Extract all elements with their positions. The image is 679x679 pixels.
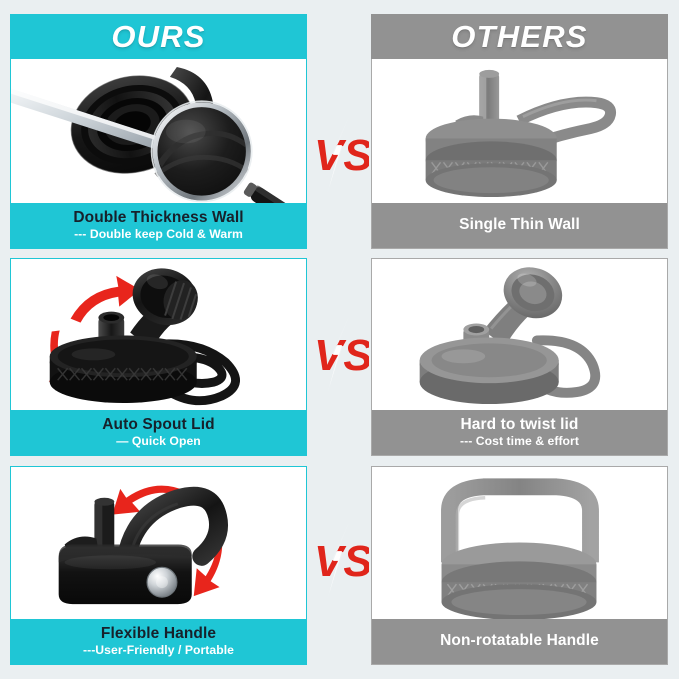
panel-others-row-1: Single Thin Wall [371,59,668,249]
caption-title: Auto Spout Lid [102,417,214,433]
header-title-ours: OURS [111,19,205,55]
vs-badge-graphic: VS [313,112,369,194]
non-rotatable-handle-illustration [372,467,667,619]
auto-spout-lid-illustration [11,259,306,410]
comparison-infographic: OURS [0,0,679,679]
caption-subtitle: — Quick Open [116,435,201,448]
single-thin-wall-illustration [372,59,667,203]
column-ours: OURS [10,0,307,679]
caption-others-row-3: Non-rotatable Handle [372,619,667,664]
caption-others-row-1: Single Thin Wall [372,203,667,248]
panel-others-row-3: Non-rotatable Handle [371,466,668,665]
product-image-ours-row-1 [11,59,306,203]
vs-badge-row-3: VS [313,518,369,600]
caption-title: Flexible Handle [101,626,216,642]
column-others: OTHERS [371,0,668,679]
vs-badge-graphic: VS [313,312,369,394]
caption-title: Hard to twist lid [461,417,579,433]
flexible-handle-illustration [11,467,306,619]
product-image-ours-row-2 [11,259,306,410]
caption-subtitle: --- Cost time & effort [460,435,579,448]
panel-ours-row-3: Flexible Handle ---User-Friendly / Porta… [10,466,307,665]
caption-ours-row-3: Flexible Handle ---User-Friendly / Porta… [11,619,306,664]
vs-label: VS [314,331,369,380]
hard-to-twist-lid-illustration [372,259,667,410]
header-title-others: OTHERS [451,19,587,55]
product-image-others-row-1 [372,59,667,203]
lightning-bolt-icon [327,312,351,394]
lightning-bolt-icon [327,518,351,600]
caption-ours-row-1: Double Thickness Wall --- Double keep Co… [11,203,306,248]
product-image-others-row-3 [372,467,667,619]
product-image-ours-row-3 [11,467,306,619]
vs-label: VS [314,537,369,586]
caption-subtitle: --- Double keep Cold & Warm [74,228,243,241]
caption-title: Non-rotatable Handle [440,633,599,649]
lightning-bolt-icon [327,112,351,194]
product-image-others-row-2 [372,259,667,410]
caption-subtitle: ---User-Friendly / Portable [83,644,234,657]
double-wall-illustration [11,59,306,203]
caption-title: Single Thin Wall [459,217,580,233]
caption-title: Double Thickness Wall [73,210,243,226]
caption-others-row-2: Hard to twist lid --- Cost time & effort [372,410,667,455]
vs-badge-row-1: VS [313,112,369,194]
header-banner-others: OTHERS [371,14,668,59]
header-banner-ours: OURS [10,14,307,59]
vs-badge-row-2: VS [313,312,369,394]
panel-ours-row-1: Double Thickness Wall --- Double keep Co… [10,59,307,249]
panel-others-row-2: Hard to twist lid --- Cost time & effort [371,258,668,456]
panel-ours-row-2: Auto Spout Lid — Quick Open [10,258,307,456]
vs-badge-graphic: VS [313,518,369,600]
vs-label: VS [314,131,369,180]
caption-ours-row-2: Auto Spout Lid — Quick Open [11,410,306,455]
